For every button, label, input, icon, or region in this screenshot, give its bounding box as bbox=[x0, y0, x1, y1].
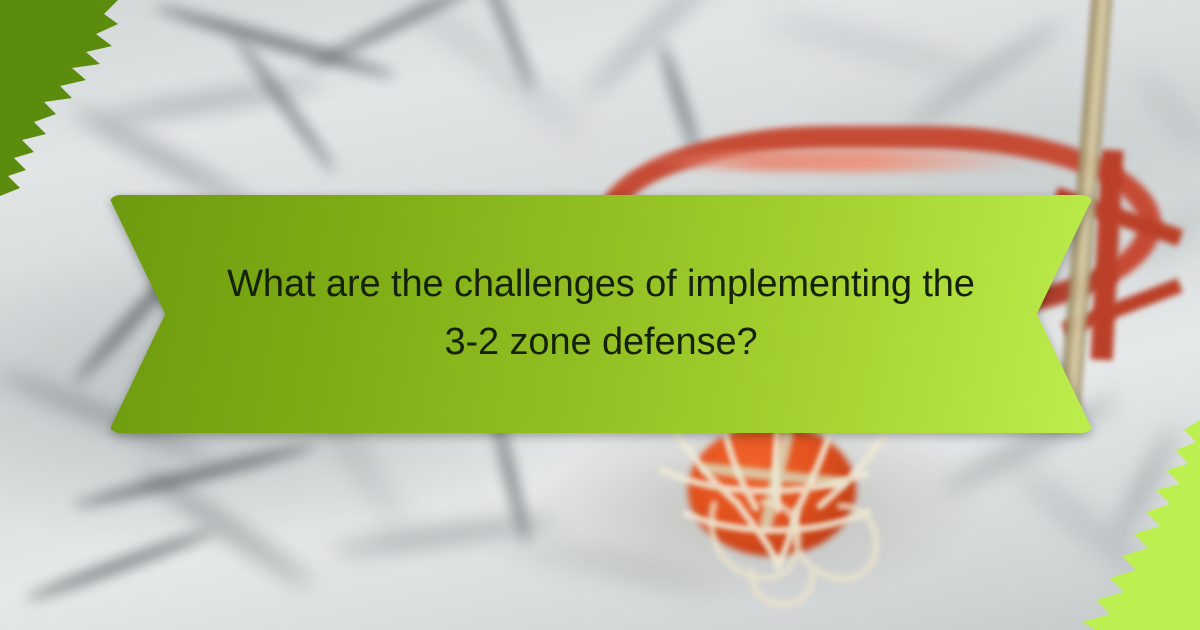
hoop-rim-highlight bbox=[640, 150, 1060, 172]
title-ribbon: What are the challenges of implementing … bbox=[108, 195, 1094, 433]
page-title: What are the challenges of implementing … bbox=[201, 256, 1001, 372]
social-share-card: What are the challenges of implementing … bbox=[0, 0, 1200, 630]
net-loops-icon bbox=[700, 500, 890, 612]
